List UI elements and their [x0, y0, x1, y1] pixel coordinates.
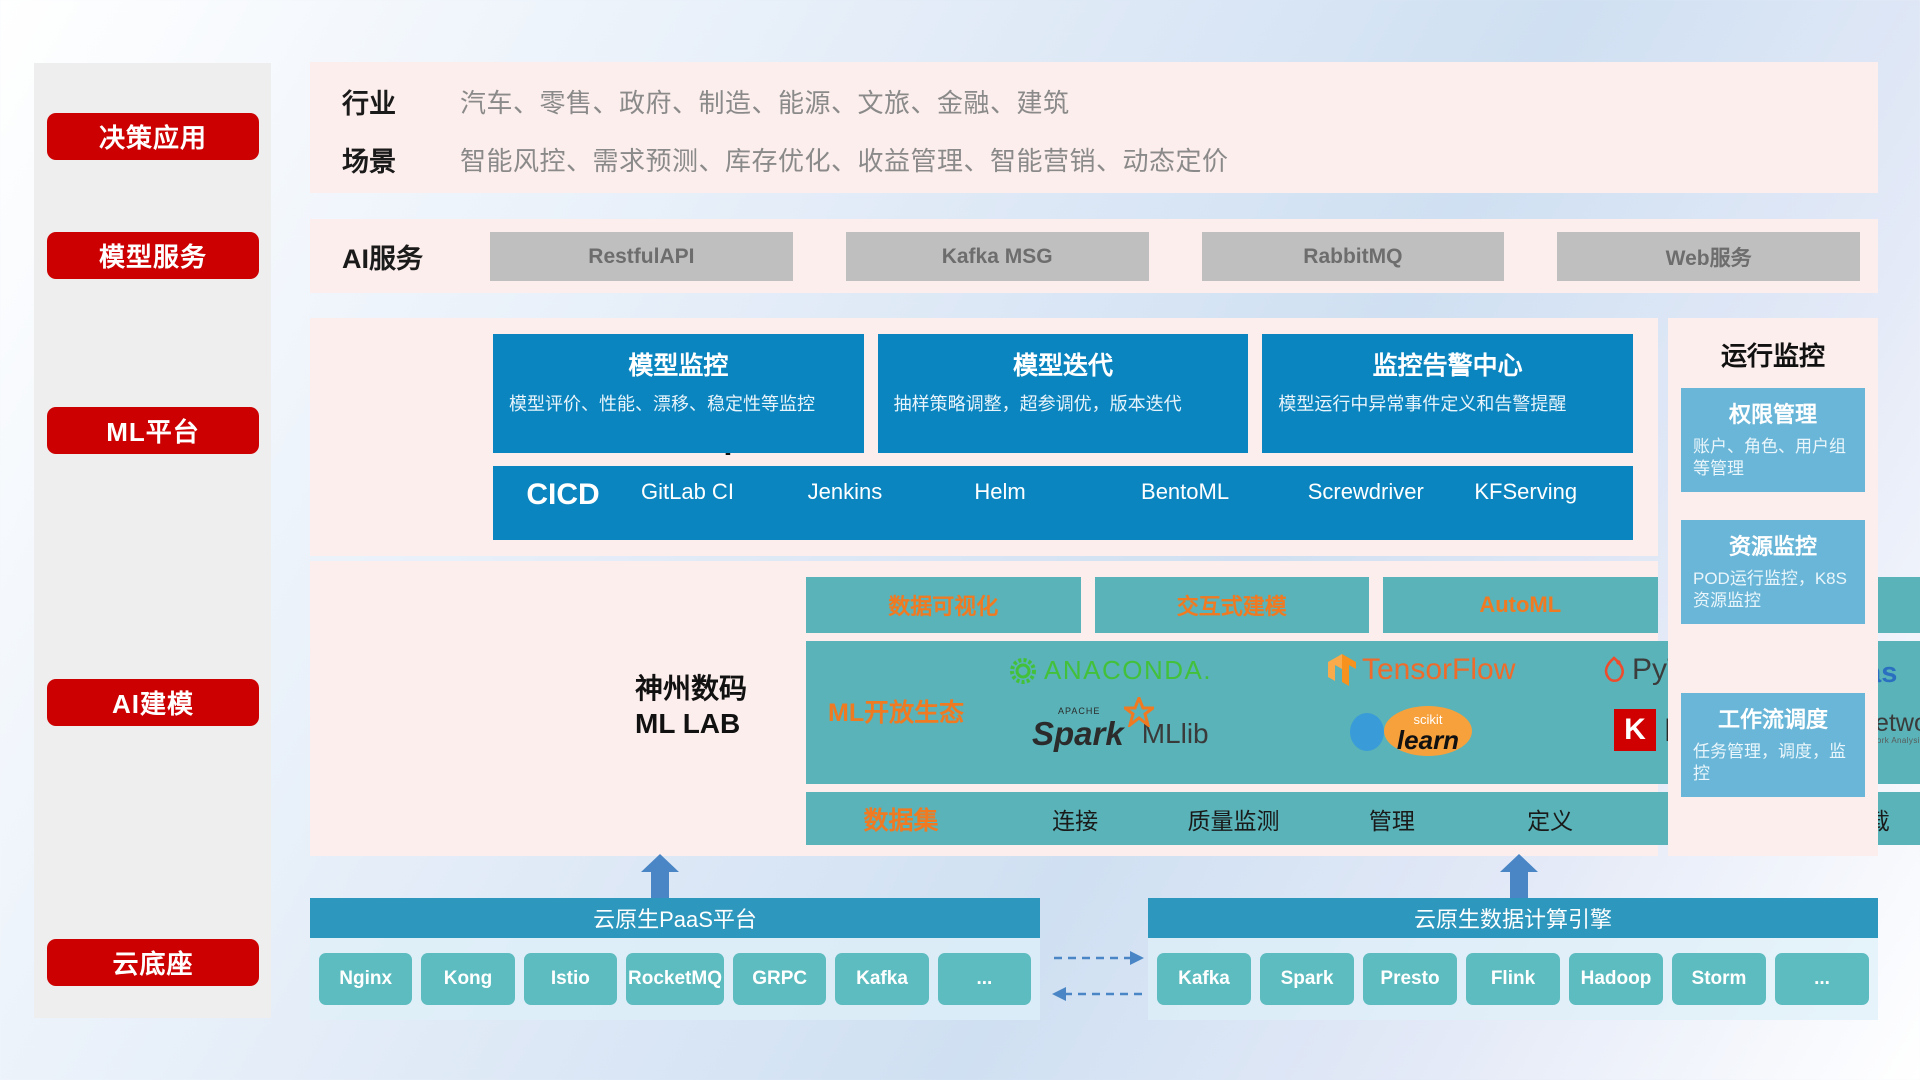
layer-chip-cloud-base[interactable]: 云底座 [47, 939, 259, 986]
cloud-paas-tags: Nginx Kong Istio RocketMQ GRPC Kafka ... [310, 938, 1040, 1020]
cicd-item-jenkins[interactable]: Jenkins [800, 478, 967, 506]
up-arrow-data-engine-icon [1497, 852, 1541, 898]
ai-service-button-restfulapi[interactable]: RestfulAPI [490, 232, 793, 281]
ml-lab-label-line2: ML LAB [635, 706, 747, 741]
industry-label: 行业 [310, 82, 460, 121]
cicd-title: CICD [493, 478, 633, 512]
ml-lab-label: 神州数码 ML LAB [635, 671, 747, 741]
data-tag-hadoop[interactable]: Hadoop [1569, 953, 1663, 1005]
dataset-item-management[interactable]: 管理 [1313, 802, 1471, 836]
mlops-card-title: 模型迭代 [894, 346, 1233, 382]
data-tag-storm[interactable]: Storm [1672, 953, 1766, 1005]
layer-chip-label: ML平台 [106, 412, 200, 449]
mlops-card-desc: 抽样策略调整，超参调优，版本迭代 [894, 392, 1233, 416]
industry-row: 行业 汽车、零售、政府、制造、能源、文旅、金融、建筑 [310, 82, 1070, 121]
mlops-card-model-iteration[interactable]: 模型迭代 抽样策略调整，超参调优，版本迭代 [878, 334, 1249, 453]
mlops-card-model-monitoring[interactable]: 模型监控 模型评价、性能、漂移、稳定性等监控 [493, 334, 864, 453]
monitor-card-desc: 任务管理，调度，监控 [1693, 741, 1853, 785]
spark-mllib-logo: APACHE Spark MLlib [1032, 715, 1209, 753]
monitor-card-title: 权限管理 [1693, 397, 1853, 429]
tab-data-visualization[interactable]: 数据可视化 [806, 577, 1081, 633]
data-tag-presto[interactable]: Presto [1363, 953, 1457, 1005]
cloud-native-paas-block: 云原生PaaS平台 Nginx Kong Istio RocketMQ GRPC… [310, 898, 1040, 1020]
scenario-label: 场景 [310, 140, 460, 179]
monitor-card-desc: 账户、角色、用户组等管理 [1693, 436, 1853, 480]
ai-service-panel: AI服务 RestfulAPI Kafka MSG RabbitMQ Web服务 [310, 219, 1878, 293]
cicd-item-bentoml[interactable]: BentoML [1133, 478, 1300, 506]
cloud-tag-rocketmq[interactable]: RocketMQ [626, 953, 724, 1005]
tensorflow-mark-icon [1326, 653, 1358, 687]
ml-lab-label-line1: 神州数码 [635, 671, 747, 706]
spark-wordmark: Spark [1032, 715, 1124, 752]
scikit-learn-logo: scikit learn [1346, 709, 1474, 755]
mlops-panel: MLOps 模型监控 模型评价、性能、漂移、稳定性等监控 模型迭代 抽样策略调整… [310, 318, 1658, 556]
cicd-item-gitlab-ci[interactable]: GitLab CI [633, 478, 800, 506]
tensorflow-logo: TensorFlow [1326, 653, 1515, 687]
cloud-paas-header: 云原生PaaS平台 [310, 898, 1040, 938]
data-tag-kafka[interactable]: Kafka [1157, 953, 1251, 1005]
ai-service-button-rabbitmq[interactable]: RabbitMQ [1202, 232, 1505, 281]
cicd-item-kfserving[interactable]: KFServing [1466, 478, 1633, 506]
ml-ecosystem-label: ML开放生态 [828, 693, 964, 729]
cloud-tag-more[interactable]: ... [938, 953, 1031, 1005]
cloud-tag-nginx[interactable]: Nginx [319, 953, 412, 1005]
cloud-native-data-engine-block: 云原生数据计算引擎 Kafka Spark Presto Flink Hadoo… [1148, 898, 1878, 1020]
ml-lab-panel: 神州数码 ML LAB 数据可视化 交互式建模 AutoML JupyterLa… [310, 561, 1658, 856]
pytorch-mark-icon [1600, 654, 1628, 686]
dataset-item-quality-monitoring[interactable]: 质量监测 [1154, 802, 1312, 836]
dataset-item-connect[interactable]: 连接 [996, 802, 1154, 836]
mlops-card-desc: 模型评价、性能、漂移、稳定性等监控 [509, 392, 848, 416]
runtime-monitor-panel: 运行监控 权限管理 账户、角色、用户组等管理 资源监控 POD运行监控，K8S资… [1668, 318, 1878, 856]
ai-service-buttons: RestfulAPI Kafka MSG RabbitMQ Web服务 [490, 232, 1860, 281]
data-tag-flink[interactable]: Flink [1466, 953, 1560, 1005]
industry-scenario-panel: 行业 汽车、零售、政府、制造、能源、文旅、金融、建筑 场景 智能风控、需求预测、… [310, 62, 1878, 193]
keras-mark-icon: K [1614, 709, 1656, 751]
monitor-card-workflow[interactable]: 工作流调度 任务管理，调度，监控 [1681, 693, 1865, 797]
scenario-row: 场景 智能风控、需求预测、库存优化、收益管理、智能营销、动态定价 [310, 140, 1229, 179]
data-tag-more[interactable]: ... [1775, 953, 1869, 1005]
anaconda-mark-icon [1008, 656, 1038, 686]
tab-automl[interactable]: AutoML [1383, 577, 1658, 633]
cloud-tag-kong[interactable]: Kong [421, 953, 514, 1005]
mlops-card-title: 监控告警中心 [1278, 346, 1617, 382]
ai-service-button-kafka-msg[interactable]: Kafka MSG [846, 232, 1149, 281]
layer-chip-label: 决策应用 [99, 118, 207, 155]
bidirectional-link-arrows-icon [1052, 946, 1144, 1006]
up-arrow-paas-icon [638, 852, 682, 898]
tab-interactive-modeling[interactable]: 交互式建模 [1095, 577, 1370, 633]
tensorflow-wordmark: TensorFlow [1362, 653, 1515, 687]
layer-chip-model-service[interactable]: 模型服务 [47, 232, 259, 279]
cloud-tag-grpc[interactable]: GRPC [733, 953, 826, 1005]
layer-chip-decision-app[interactable]: 决策应用 [47, 113, 259, 160]
ai-service-label: AI服务 [342, 237, 423, 276]
mlops-cards: 模型监控 模型评价、性能、漂移、稳定性等监控 模型迭代 抽样策略调整，超参调优，… [493, 334, 1633, 453]
spark-star-icon [1124, 697, 1154, 727]
monitor-card-permission[interactable]: 权限管理 账户、角色、用户组等管理 [1681, 388, 1865, 492]
monitor-card-title: 工作流调度 [1693, 702, 1853, 734]
dataset-title: 数据集 [806, 801, 996, 837]
spark-apache-tag: APACHE [1058, 706, 1100, 716]
cicd-item-helm[interactable]: Helm [966, 478, 1133, 506]
scenario-values: 智能风控、需求预测、库存优化、收益管理、智能营销、动态定价 [460, 141, 1229, 178]
architecture-diagram: 决策应用 模型服务 ML平台 AI建模 云底座 行业 汽车、零售、政府、制造、能… [0, 0, 1920, 1080]
anaconda-logo: ANACONDA. [1008, 655, 1212, 686]
cloud-tag-istio[interactable]: Istio [524, 953, 617, 1005]
mlops-card-desc: 模型运行中异常事件定义和告警提醒 [1278, 392, 1617, 416]
runtime-monitor-title: 运行监控 [1668, 336, 1878, 373]
cicd-item-screwdriver[interactable]: Screwdriver [1300, 478, 1467, 506]
scikit-learn-wordmark: learn [1382, 727, 1474, 753]
monitor-card-resource[interactable]: 资源监控 POD运行监控，K8S资源监控 [1681, 520, 1865, 624]
data-tag-spark[interactable]: Spark [1260, 953, 1354, 1005]
cicd-bar: CICD GitLab CI Jenkins Helm BentoML Scre… [493, 466, 1633, 540]
monitor-card-title: 资源监控 [1693, 529, 1853, 561]
layer-chip-ai-modeling[interactable]: AI建模 [47, 679, 259, 726]
layer-rail [34, 63, 271, 1018]
layer-chip-ml-platform[interactable]: ML平台 [47, 407, 259, 454]
layer-chip-label: AI建模 [112, 684, 194, 721]
layer-chip-label: 云底座 [112, 944, 193, 981]
anaconda-wordmark: ANACONDA. [1044, 655, 1212, 686]
ai-service-button-web[interactable]: Web服务 [1557, 232, 1860, 281]
dataset-item-definition[interactable]: 定义 [1471, 802, 1629, 836]
monitor-card-desc: POD运行监控，K8S资源监控 [1693, 568, 1853, 612]
cloud-tag-kafka[interactable]: Kafka [835, 953, 928, 1005]
layer-chip-label: 模型服务 [99, 237, 207, 274]
cloud-data-engine-tags: Kafka Spark Presto Flink Hadoop Storm ..… [1148, 938, 1878, 1020]
mlops-card-alert-center[interactable]: 监控告警中心 模型运行中异常事件定义和告警提醒 [1262, 334, 1633, 453]
cloud-data-engine-header: 云原生数据计算引擎 [1148, 898, 1878, 938]
mlops-card-title: 模型监控 [509, 346, 848, 382]
industry-values: 汽车、零售、政府、制造、能源、文旅、金融、建筑 [460, 83, 1070, 120]
